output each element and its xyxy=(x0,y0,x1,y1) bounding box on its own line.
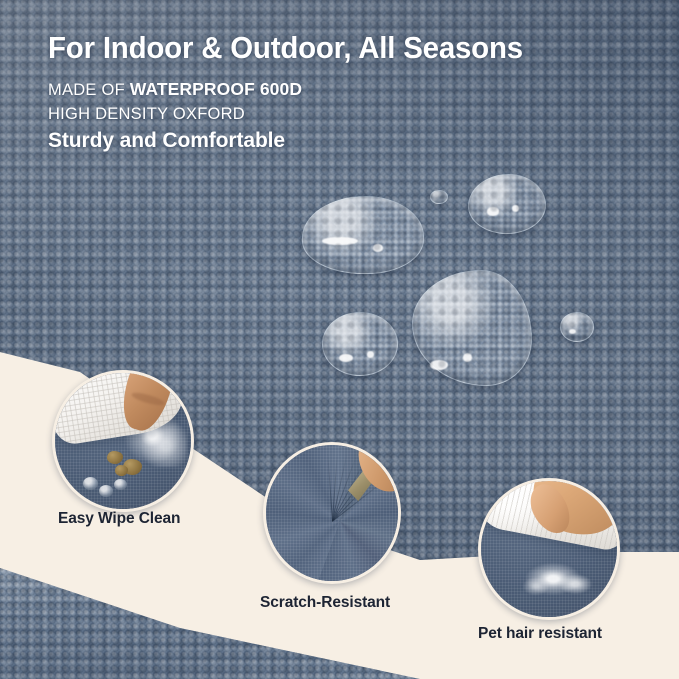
feature-image-easy-wipe-clean xyxy=(52,370,194,512)
droplet-glint xyxy=(367,351,374,357)
subheading-line-1: MADE OF WATERPROOF 600D xyxy=(48,77,648,102)
water-beads-icon xyxy=(83,477,141,505)
droplet-round-lower xyxy=(322,312,398,376)
droplet-large-left xyxy=(302,196,424,274)
droplet-glint xyxy=(512,205,520,211)
product-infographic: For Indoor & Outdoor, All Seasons MADE O… xyxy=(0,0,679,679)
droplet-boot-shape xyxy=(412,270,532,386)
subheading-line-1-emphasis: WATERPROOF 600D xyxy=(130,79,302,99)
droplet-tiny-top xyxy=(430,190,448,204)
droplet-glint xyxy=(339,354,352,362)
page-title: For Indoor & Outdoor, All Seasons xyxy=(48,32,627,64)
subheading-line-3: Sturdy and Comfortable xyxy=(48,129,648,153)
droplet-glint xyxy=(322,237,358,245)
header-text-block: For Indoor & Outdoor, All Seasons MADE O… xyxy=(48,32,648,153)
subheading-block: MADE OF WATERPROOF 600D HIGH DENSITY OXF… xyxy=(48,77,648,153)
droplet-glint xyxy=(430,360,449,370)
droplet-small-right xyxy=(560,312,594,342)
feature-label-pet-hair-resistant: Pet hair resistant xyxy=(478,625,602,643)
subheading-line-1-prefix: MADE OF xyxy=(48,81,130,99)
feature-label-scratch-resistant: Scratch-Resistant xyxy=(260,594,390,612)
subheading-line-2: HIGH DENSITY OXFORD xyxy=(48,103,648,126)
pet-hair-icon xyxy=(517,555,603,607)
feature-label-easy-wipe-clean: Easy Wipe Clean xyxy=(58,510,180,528)
droplet-glint xyxy=(487,207,498,215)
droplet-glint xyxy=(569,329,576,334)
droplet-upper-right xyxy=(468,174,546,234)
droplet-glint xyxy=(373,244,384,252)
feature-image-pet-hair-resistant xyxy=(478,478,620,620)
droplet-glint xyxy=(463,353,472,362)
feature-image-scratch-resistant xyxy=(263,442,401,584)
